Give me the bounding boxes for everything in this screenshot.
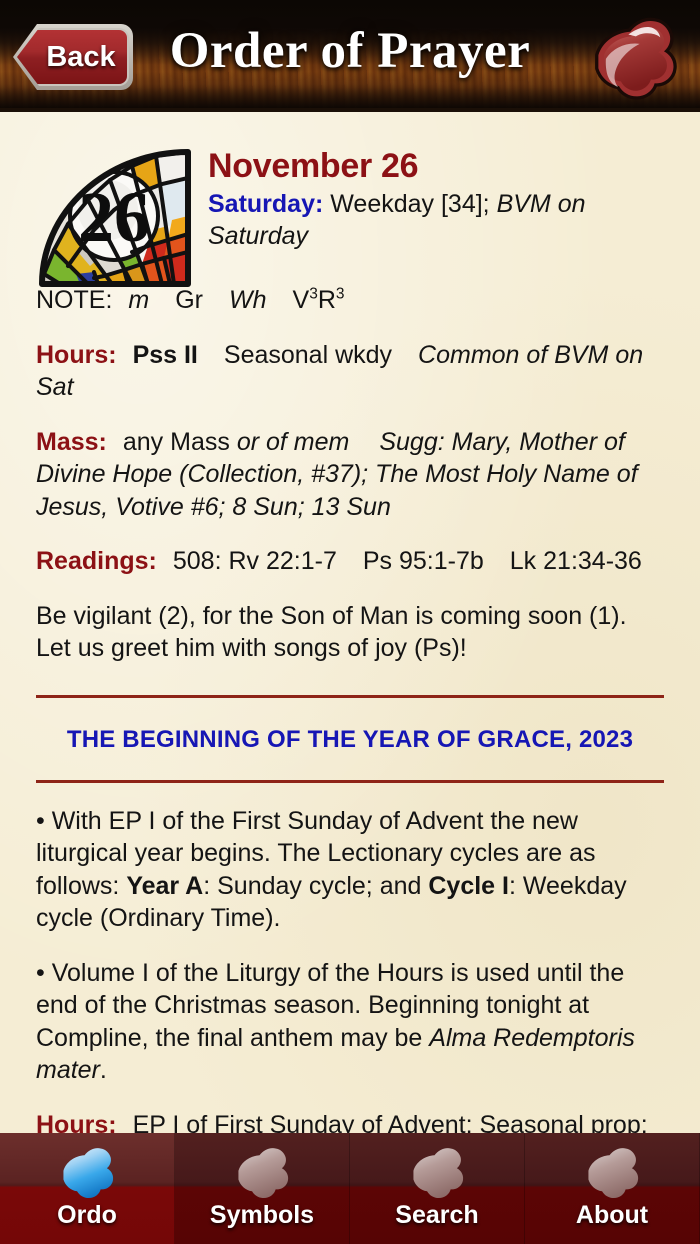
dove-logo-icon	[586, 12, 682, 102]
year-of-grace-heading: THE BEGINNING OF THE YEAR OF GRACE, 2023	[36, 698, 664, 754]
bullet2-part-b: .	[100, 1056, 107, 1084]
note-color: Wh	[229, 286, 267, 314]
note-line: NOTE:mGrWhV3R3	[36, 284, 664, 317]
bullet1-bold-year-a: Year A	[126, 872, 203, 900]
note-label: NOTE:	[36, 286, 112, 314]
prayer-content-pane[interactable]: 26 November 26 Saturday: Weekday [34]; B…	[0, 112, 700, 1133]
dove-icon	[406, 1141, 468, 1203]
note-r-sup: 3	[336, 286, 345, 303]
back-button-label: Back	[46, 41, 115, 74]
tab-search[interactable]: Search	[350, 1133, 525, 1244]
dove-icon	[581, 1141, 643, 1203]
year-hours-line: Hours:EP I of First Sunday of Advent: Se…	[36, 1109, 664, 1134]
tab-label-symbols: Symbols	[210, 1201, 314, 1230]
date-title: November 26	[208, 148, 664, 184]
hours-label: Hours:	[36, 341, 117, 369]
date-block: 26 November 26 Saturday: Weekday [34]; B…	[36, 112, 664, 262]
bullet1-bold-cycle-i: Cycle I	[428, 872, 509, 900]
weekday-line: Saturday: Weekday [34]; BVM on Saturday	[208, 188, 664, 252]
dove-icon	[56, 1141, 118, 1203]
weekday-rest: Weekday [34];	[330, 190, 489, 218]
hours-psalter: Pss II	[133, 341, 198, 369]
tab-symbols[interactable]: Symbols	[175, 1133, 350, 1244]
dove-icon	[231, 1141, 293, 1203]
readings-psalm: Ps 95:1-7b	[363, 547, 484, 575]
bullet-paragraph-1: • With EP I of the First Sunday of Adven…	[36, 805, 664, 935]
mass-or-of-mem: or of mem	[237, 428, 350, 456]
weekday-label: Saturday:	[208, 190, 323, 218]
mass-line: Mass:any Mass or of memSugg: Mary, Mothe…	[36, 426, 664, 524]
divider-bottom	[36, 780, 664, 783]
mass-label: Mass:	[36, 428, 107, 456]
hours-line: Hours:Pss IISeasonal wkdyCommon of BVM o…	[36, 339, 664, 404]
date-text-group: November 26 Saturday: Weekday [34]; BVM …	[208, 148, 664, 252]
tab-about[interactable]: About	[525, 1133, 700, 1244]
readings-line: Readings:508: Rv 22:1-7Ps 95:1-7bLk 21:3…	[36, 545, 664, 578]
bullet-paragraph-2: • Volume I of the Liturgy of the Hours i…	[36, 957, 664, 1087]
tab-ordo[interactable]: Ordo	[0, 1133, 175, 1244]
back-button[interactable]: Back	[17, 28, 129, 86]
readings-gospel: Lk 21:34-36	[510, 547, 642, 575]
mass-any: any Mass	[123, 428, 230, 456]
note-vr: V3R3	[293, 286, 345, 314]
note-mem: m	[128, 286, 149, 314]
readings-number: 508: Rv 22:1-7	[173, 547, 337, 575]
note-rank: Gr	[175, 286, 203, 314]
note-v: V	[293, 286, 310, 314]
stained-glass-calendar-icon: 26	[36, 148, 193, 288]
bullet1-part-b: : Sunday cycle; and	[203, 872, 428, 900]
year-hours-text-a: EP I of First Sunday of Advent: Seasonal…	[36, 1111, 648, 1134]
hours-seasonal: Seasonal wkdy	[224, 341, 392, 369]
tab-label-about: About	[576, 1201, 648, 1230]
readings-summary: Be vigilant (2), for the Son of Man is c…	[36, 600, 664, 665]
year-hours-label: Hours:	[36, 1111, 117, 1134]
tab-label-search: Search	[395, 1201, 478, 1230]
readings-label: Readings:	[36, 547, 157, 575]
note-v-sup: 3	[309, 286, 318, 303]
tab-label-ordo: Ordo	[57, 1201, 117, 1230]
note-r: R	[318, 286, 336, 314]
bottom-tab-bar: Ordo Symbols	[0, 1133, 700, 1244]
app-header: Back Order of Prayer	[0, 0, 700, 112]
